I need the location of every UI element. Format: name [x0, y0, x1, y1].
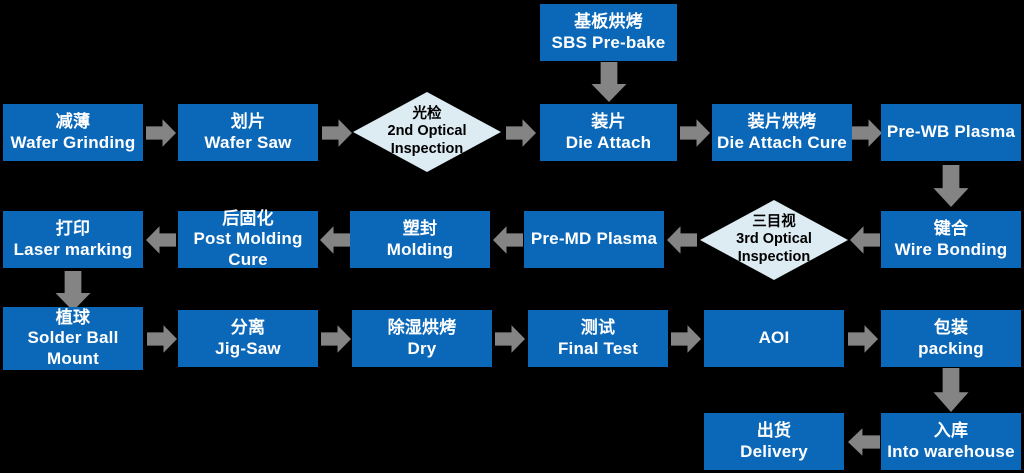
arrow-2nd-optical-to-die-attach: [506, 118, 536, 148]
process-laser-marking[interactable]: 打印Laser marking: [3, 211, 143, 268]
arrow-solder-ball-to-jig-saw: [147, 324, 177, 354]
arrow-warehouse-to-delivery: [848, 427, 880, 457]
process-pre-wb-plasma[interactable]: Pre-WB Plasma: [881, 104, 1021, 161]
process-packing[interactable]: 包装packing: [881, 310, 1021, 367]
process-molding[interactable]: 塑封Molding: [350, 211, 490, 268]
wafer-grinding-label-en: Wafer Grinding: [11, 133, 136, 153]
2nd-optical-label-cn: 光检: [353, 106, 501, 123]
process-wafer-saw[interactable]: 划片Wafer Saw: [178, 104, 318, 161]
process-wire-bonding[interactable]: 键合Wire Bonding: [881, 211, 1021, 268]
post-molding-cure-label: 后固化Post Molding Cure: [182, 209, 314, 269]
decision-3rd-optical[interactable]: 三目视3rd Optical Inspection: [700, 200, 848, 280]
arrow-sbs-to-die-attach: [590, 62, 628, 102]
final-test-label-en: Final Test: [558, 339, 638, 359]
arrow-aoi-to-packing: [848, 324, 878, 354]
wire-bonding-label-cn: 键合: [895, 219, 1008, 239]
delivery-label: 出货Delivery: [740, 421, 808, 461]
die-attach-label: 装片Die Attach: [566, 112, 651, 152]
process-pre-md-plasma[interactable]: Pre-MD Plasma: [524, 211, 664, 268]
post-molding-cure-label-cn: 后固化: [182, 209, 314, 229]
wafer-grinding-label-cn: 减薄: [11, 112, 136, 132]
dry-label: 除湿烘烤Dry: [388, 318, 457, 358]
arrow-grinding-to-saw: [146, 118, 176, 148]
die-attach-label-cn: 装片: [566, 112, 651, 132]
into-warehouse-label: 入库Into warehouse: [887, 421, 1015, 461]
delivery-label-cn: 出货: [740, 421, 808, 441]
arrow-pre-md-to-molding: [493, 225, 523, 255]
final-test-label-cn: 测试: [558, 318, 638, 338]
process-into-warehouse[interactable]: 入库Into warehouse: [881, 413, 1021, 470]
wire-bonding-label: 键合Wire Bonding: [895, 219, 1008, 259]
process-aoi[interactable]: AOI: [704, 310, 844, 367]
die-attach-cure-label-cn: 装片烘烤: [717, 112, 847, 132]
arrow-post-cure-to-laser: [146, 225, 176, 255]
process-solder-ball-mount[interactable]: 植球Solder Ball Mount: [3, 307, 143, 370]
arrow-3rd-optical-to-pre-md: [667, 225, 697, 255]
arrow-jig-saw-to-dry: [321, 324, 351, 354]
arrow-cure-to-pre-wb: [852, 118, 882, 148]
decision-2nd-optical[interactable]: 光检2nd Optical Inspection: [353, 92, 501, 172]
wire-bonding-label-en: Wire Bonding: [895, 240, 1008, 260]
molding-label: 塑封Molding: [387, 219, 454, 259]
die-attach-cure-label: 装片烘烤Die Attach Cure: [717, 112, 847, 152]
wafer-saw-label-cn: 划片: [204, 112, 291, 132]
aoi-label-en: AOI: [759, 328, 790, 348]
post-molding-cure-label-en: Post Molding Cure: [182, 229, 314, 269]
die-attach-label-en: Die Attach: [566, 133, 651, 153]
arrow-dry-to-final-test: [495, 324, 525, 354]
process-sbs-pre-bake[interactable]: 基板烘烤SBS Pre-bake: [540, 4, 677, 61]
pre-wb-plasma-label: Pre-WB Plasma: [887, 122, 1015, 142]
final-test-label: 测试Final Test: [558, 318, 638, 358]
flowchart-canvas: 基板烘烤SBS Pre-bake减薄Wafer Grinding划片Wafer …: [0, 0, 1024, 473]
arrow-laser-to-solder-ball: [54, 271, 92, 311]
2nd-optical-label-en: 2nd Optical Inspection: [353, 123, 501, 158]
arrow-packing-to-warehouse: [932, 368, 970, 412]
into-warehouse-label-cn: 入库: [887, 421, 1015, 441]
3rd-optical-label-en: 3rd Optical Inspection: [700, 231, 848, 266]
solder-ball-mount-label-cn: 植球: [7, 308, 139, 328]
sbs-pre-bake-label: 基板烘烤SBS Pre-bake: [552, 12, 666, 52]
process-post-molding-cure[interactable]: 后固化Post Molding Cure: [178, 211, 318, 268]
process-dry[interactable]: 除湿烘烤Dry: [352, 310, 492, 367]
wafer-grinding-label: 减薄Wafer Grinding: [11, 112, 136, 152]
molding-label-en: Molding: [387, 240, 454, 260]
arrow-final-test-to-aoi: [671, 324, 701, 354]
laser-marking-label: 打印Laser marking: [14, 219, 133, 259]
molding-label-cn: 塑封: [387, 219, 454, 239]
process-die-attach[interactable]: 装片Die Attach: [540, 104, 677, 161]
pre-md-plasma-label: Pre-MD Plasma: [531, 229, 657, 249]
arrow-die-attach-to-cure: [680, 118, 710, 148]
wafer-saw-label-en: Wafer Saw: [204, 133, 291, 153]
dry-label-cn: 除湿烘烤: [388, 318, 457, 338]
aoi-label: AOI: [759, 328, 790, 348]
packing-label: 包装packing: [918, 318, 984, 358]
arrow-saw-to-2nd-optical: [322, 118, 352, 148]
jig-saw-label: 分离Jig-Saw: [215, 318, 281, 358]
jig-saw-label-en: Jig-Saw: [215, 339, 281, 359]
process-delivery[interactable]: 出货Delivery: [704, 413, 844, 470]
packing-label-cn: 包装: [918, 318, 984, 338]
packing-label-en: packing: [918, 339, 984, 359]
arrow-molding-to-post-cure: [320, 225, 350, 255]
delivery-label-en: Delivery: [740, 442, 808, 462]
pre-wb-plasma-label-en: Pre-WB Plasma: [887, 122, 1015, 142]
wafer-saw-label: 划片Wafer Saw: [204, 112, 291, 152]
process-wafer-grinding[interactable]: 减薄Wafer Grinding: [3, 104, 143, 161]
laser-marking-label-en: Laser marking: [14, 240, 133, 260]
sbs-pre-bake-label-cn: 基板烘烤: [552, 12, 666, 32]
process-jig-saw[interactable]: 分离Jig-Saw: [178, 310, 318, 367]
pre-md-plasma-label-en: Pre-MD Plasma: [531, 229, 657, 249]
sbs-pre-bake-label-en: SBS Pre-bake: [552, 33, 666, 53]
into-warehouse-label-en: Into warehouse: [887, 442, 1015, 462]
laser-marking-label-cn: 打印: [14, 219, 133, 239]
solder-ball-mount-label-en: Solder Ball Mount: [7, 328, 139, 368]
die-attach-cure-label-en: Die Attach Cure: [717, 133, 847, 153]
process-final-test[interactable]: 测试Final Test: [528, 310, 668, 367]
jig-saw-label-cn: 分离: [215, 318, 281, 338]
3rd-optical-label: 三目视3rd Optical Inspection: [700, 214, 848, 266]
arrow-wire-bonding-to-3rd-optical: [850, 225, 880, 255]
dry-label-en: Dry: [388, 339, 457, 359]
process-die-attach-cure[interactable]: 装片烘烤Die Attach Cure: [712, 104, 852, 161]
arrow-pre-wb-to-wire-bonding: [932, 165, 970, 207]
solder-ball-mount-label: 植球Solder Ball Mount: [7, 308, 139, 368]
3rd-optical-label-cn: 三目视: [700, 214, 848, 231]
2nd-optical-label: 光检2nd Optical Inspection: [353, 106, 501, 158]
